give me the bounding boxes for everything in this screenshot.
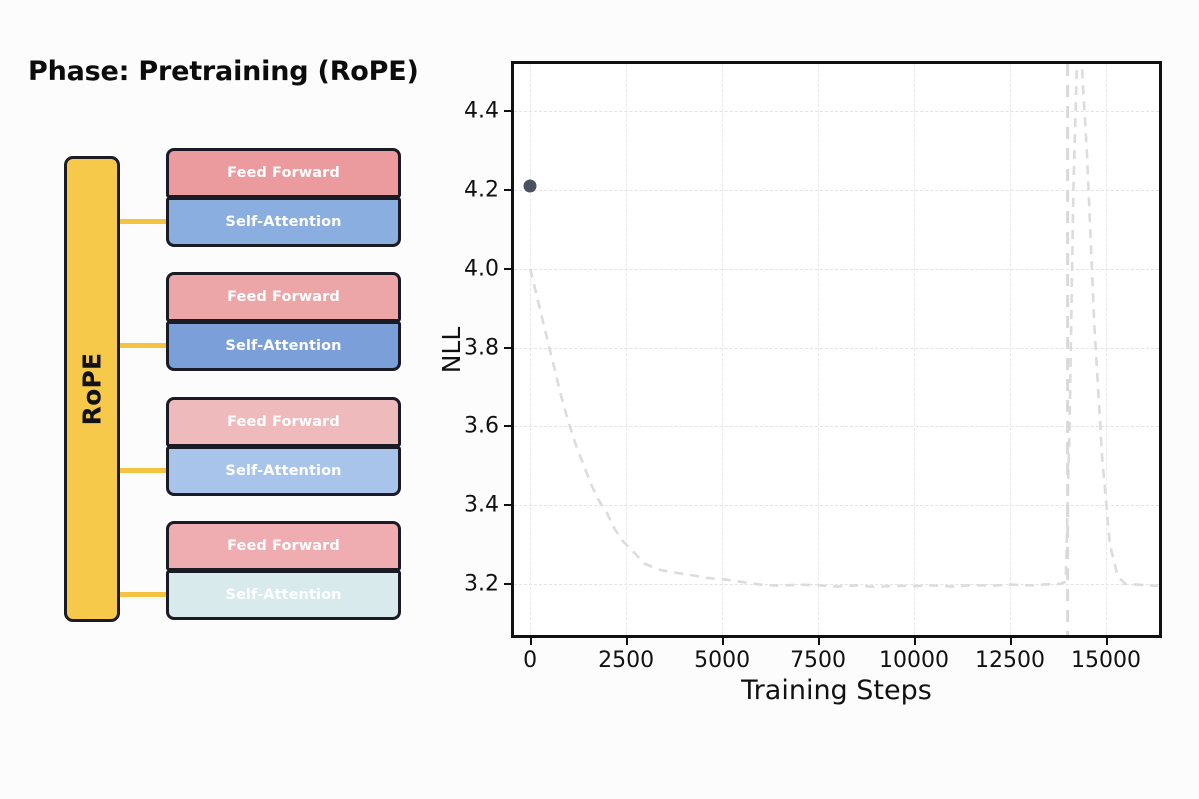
self-attention-block[interactable]: Self-Attention (166, 197, 401, 247)
self-attention-block[interactable]: Self-Attention (166, 446, 401, 496)
connector-line-2 (120, 343, 166, 348)
y-tick-mark (504, 268, 511, 270)
positional-encoding-block[interactable]: RoPE (64, 156, 120, 622)
x-tick-mark (626, 638, 628, 645)
transformer-layer-4: Feed Forward Self-Attention (166, 521, 401, 620)
y-tick-mark (504, 425, 511, 427)
screenshot-root: Phase: Pretraining (RoPE) RoPE Feed Forw… (0, 0, 1199, 799)
x-axis-tick-marks (511, 638, 1162, 648)
y-tick-mark (504, 583, 511, 585)
model-architecture-diagram: RoPE Feed Forward Self-Attention Feed Fo… (0, 0, 470, 799)
y-tick-mark (504, 189, 511, 191)
feed-forward-block[interactable]: Feed Forward (166, 397, 401, 447)
feed-forward-block[interactable]: Feed Forward (166, 521, 401, 571)
x-axis-label: Training Steps (511, 675, 1162, 706)
connector-line-4 (120, 592, 166, 597)
positional-encoding-label: RoPE (78, 353, 107, 426)
transformer-layer-2: Feed Forward Self-Attention (166, 272, 401, 371)
x-tick-mark (722, 638, 724, 645)
y-axis-label: NLL (437, 327, 466, 374)
feed-forward-block[interactable]: Feed Forward (166, 272, 401, 322)
connector-line-1 (120, 219, 166, 224)
y-tick-mark (504, 110, 511, 112)
x-tick-mark (1106, 638, 1108, 645)
x-tick-mark (818, 638, 820, 645)
connector-line-3 (120, 468, 166, 473)
training-loss-chart: NLL Training Steps 3.23.43.63.84.04.24.4… (430, 30, 1190, 730)
x-tick-mark (1010, 638, 1012, 645)
transformer-layer-1: Feed Forward Self-Attention (166, 148, 401, 247)
self-attention-block[interactable]: Self-Attention (166, 570, 401, 620)
transformer-layer-3: Feed Forward Self-Attention (166, 397, 401, 496)
self-attention-block[interactable]: Self-Attention (166, 321, 401, 371)
y-tick-mark (504, 504, 511, 506)
x-tick-mark (530, 638, 532, 645)
y-tick-mark (504, 347, 511, 349)
x-tick-mark (914, 638, 916, 645)
x-axis-ticks: 0250050007500100001250015000 (511, 61, 1162, 638)
feed-forward-block[interactable]: Feed Forward (166, 148, 401, 198)
